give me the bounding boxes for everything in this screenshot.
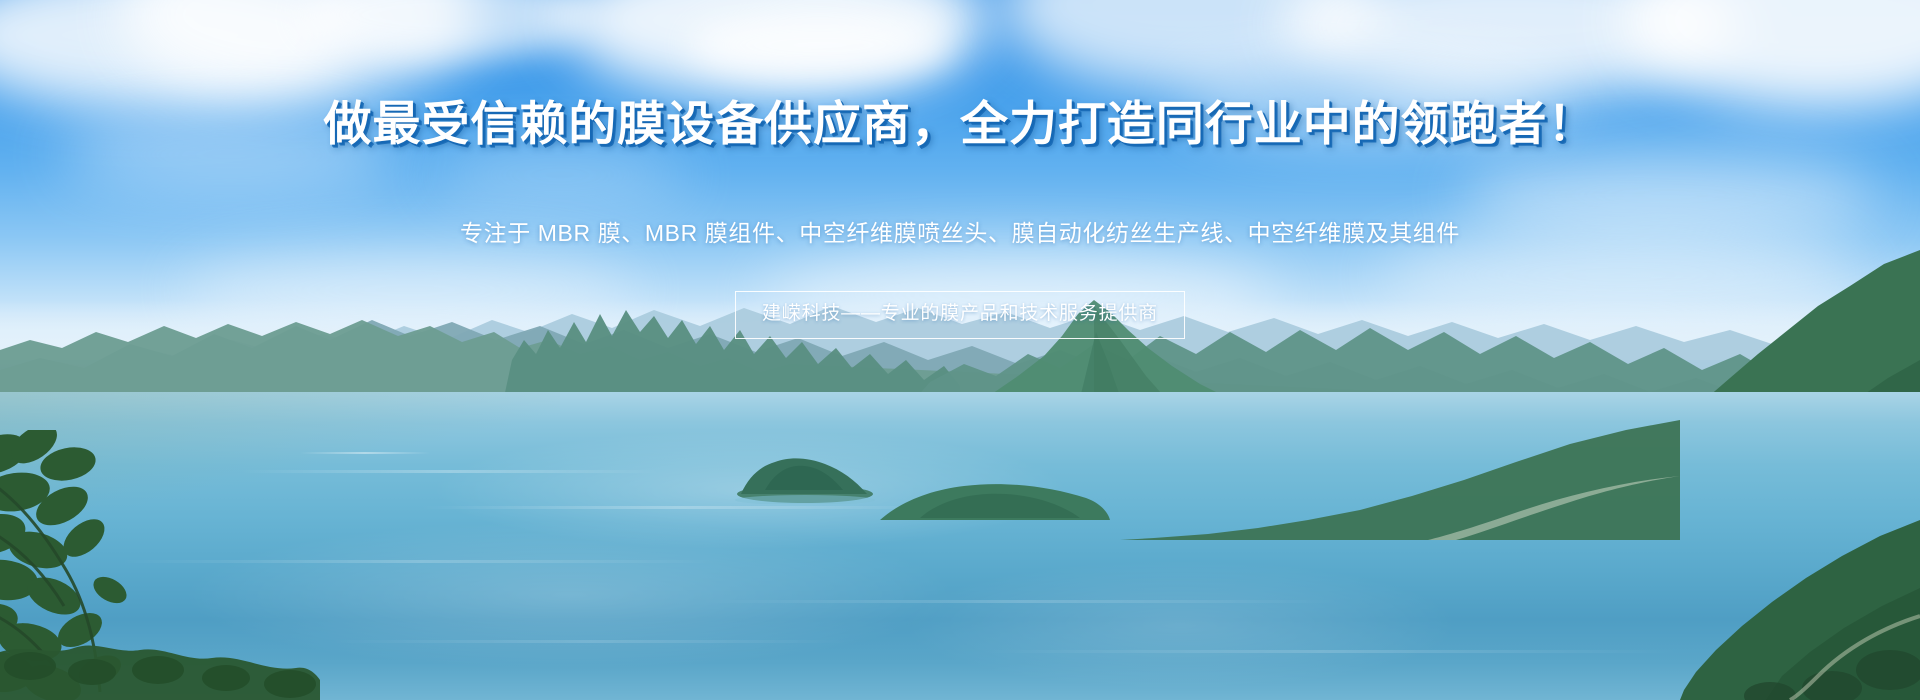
water-ripple <box>240 470 660 473</box>
lake-island-small <box>880 464 1110 524</box>
cloud <box>430 150 690 200</box>
cloud <box>1460 150 1880 240</box>
water-highlight <box>900 560 1460 690</box>
water-ripple <box>330 640 850 643</box>
cloud <box>60 120 400 190</box>
foreground-foliage-bottom-left <box>0 600 320 700</box>
cloud <box>1180 60 1560 140</box>
boat-wake <box>300 452 430 454</box>
water-ripple <box>700 600 1340 603</box>
cloud <box>690 10 950 80</box>
foreground-foliage-right <box>1560 520 1920 700</box>
hero-banner: 做最受信赖的膜设备供应商，全力打造同行业中的领跑者！ 专注于 MBR 膜、MBR… <box>0 0 1920 700</box>
water-ripple <box>420 506 940 509</box>
lake-island <box>735 432 875 504</box>
